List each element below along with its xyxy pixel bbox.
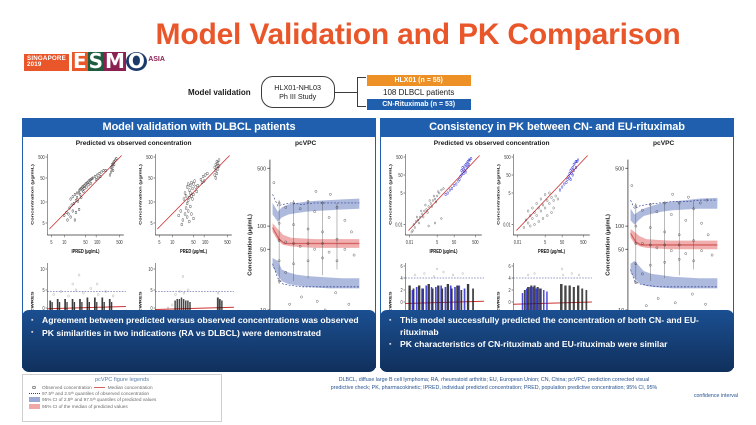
svg-text:500: 500 <box>116 239 123 245</box>
panel-right-heading: Consistency in PK between CN- and EU-rit… <box>380 118 734 137</box>
svg-text:500: 500 <box>257 166 266 172</box>
conclusion-list-left: Agreement between predicted versus obser… <box>30 315 368 339</box>
flow-connector-line <box>335 92 357 93</box>
legend-label: Observed concentration <box>42 385 92 390</box>
svg-text:50: 50 <box>260 247 266 253</box>
flow-bracket <box>357 77 358 107</box>
legend-label: 95% CI of the median of predicted values <box>42 404 128 409</box>
svg-text:100: 100 <box>202 239 209 245</box>
svg-text:PRED (µg/mL): PRED (µg/mL) <box>180 248 207 255</box>
svg-text:Concentration (µg/mL): Concentration (µg/mL) <box>605 214 611 276</box>
svg-text:0.01: 0.01 <box>406 239 414 245</box>
svg-text:Concentration (µg/mL): Concentration (µg/mL) <box>247 214 253 276</box>
logo-letter-s: S <box>88 52 104 71</box>
svg-text:PRED (µg/mL): PRED (µg/mL) <box>538 248 565 255</box>
svg-text:50: 50 <box>83 239 88 245</box>
svg-text:10: 10 <box>149 266 154 272</box>
legend-item: 95% CI of the median of predicted values <box>26 404 218 409</box>
panel-left-subtitles: Predicted vs observed concentration pcVP… <box>23 137 375 148</box>
svg-text:500: 500 <box>505 154 512 160</box>
svg-text:500: 500 <box>147 154 154 160</box>
conclusion-list-right: This model successfully predicted the co… <box>388 315 726 351</box>
legend-label: Median concentration <box>108 385 153 390</box>
logo-letter-e: E <box>72 52 88 71</box>
svg-text:500: 500 <box>38 154 45 160</box>
svg-text:50: 50 <box>507 172 512 178</box>
pcvpc-legend-box: pcVPC figure legends Observed concentrat… <box>22 374 222 422</box>
svg-text:5: 5 <box>50 239 52 245</box>
svg-text:6: 6 <box>509 263 511 269</box>
flow-study-box: HLX01-NHL03 Ph III Study <box>261 76 335 108</box>
subtitle-predicted-vs-observed-left: Predicted vs observed concentration <box>27 140 240 147</box>
svg-text:Concentration (µg/mL): Concentration (µg/mL) <box>496 164 501 225</box>
svg-text:4: 4 <box>400 275 402 281</box>
svg-text:50: 50 <box>618 247 624 253</box>
svg-text:500: 500 <box>396 154 403 160</box>
flow-total-patients: 108 DLBCL patients <box>367 87 471 98</box>
svg-text:Concentration (µg/mL): Concentration (µg/mL) <box>30 164 35 225</box>
flow-arm-cn-rituximab: CN-Rituximab (n = 53) <box>367 99 471 110</box>
svg-text:5: 5 <box>436 239 438 245</box>
legend-item: Observed concentration Median concentrat… <box>26 385 218 390</box>
slide-header: SINGAPORE 2019 E S M O ASIA Model Valida… <box>0 0 756 112</box>
conclusion-item: Agreement between predicted versus obser… <box>30 315 368 327</box>
flow-arms: HLX01 (n = 55) 108 DLBCL patients CN-Rit… <box>367 75 471 110</box>
svg-text:10: 10 <box>149 199 154 205</box>
esmo-asia-logo: SINGAPORE 2019 E S M O ASIA <box>24 52 147 71</box>
svg-text:10: 10 <box>40 199 45 205</box>
svg-text:100: 100 <box>615 224 624 230</box>
svg-text:5: 5 <box>400 190 402 196</box>
svg-text:100: 100 <box>94 239 101 245</box>
svg-text:10: 10 <box>62 239 67 245</box>
flow-label: Model validation <box>188 88 251 97</box>
legend-label: 95% CI of 2.5ᵗʰ and 97.5ᵗʰ quantiles of … <box>42 397 156 402</box>
svg-text:0.01: 0.01 <box>514 239 522 245</box>
svg-text:2: 2 <box>509 287 511 293</box>
svg-text:50: 50 <box>560 239 565 245</box>
svg-text:0.01: 0.01 <box>395 222 403 228</box>
svg-text:500: 500 <box>615 166 624 172</box>
abbreviations-footnote: DLBCL, diffuse large B cell lymphoma; RA… <box>250 376 738 400</box>
logo-singapore-badge: SINGAPORE 2019 <box>24 54 69 71</box>
svg-text:5: 5 <box>42 287 44 293</box>
svg-text:10: 10 <box>170 239 175 245</box>
footnote-line-3: confidence interval <box>250 392 738 400</box>
subtitle-pcvpc-left: pcVPC <box>240 140 371 147</box>
conclusion-item: PK similarities in two indications (RA v… <box>30 328 368 340</box>
svg-text:IPRED (µg/mL): IPRED (µg/mL) <box>71 248 99 255</box>
svg-text:500: 500 <box>472 239 479 245</box>
footnote-line-1: DLBCL, diffuse large B cell lymphoma; RA… <box>250 376 738 384</box>
observed-concentration-circle-icon <box>26 386 42 390</box>
logo-year: 2019 <box>27 62 66 69</box>
svg-text:2: 2 <box>400 287 402 293</box>
svg-text:50: 50 <box>398 172 403 178</box>
svg-text:Concentration (µg/mL): Concentration (µg/mL) <box>388 164 393 225</box>
svg-text:5: 5 <box>42 220 44 226</box>
svg-text:IPRED (µg/mL): IPRED (µg/mL) <box>429 248 457 255</box>
logo-letter-m: M <box>104 52 126 71</box>
legend-label: 97.5ᵗʰ and 2.5ᵗʰ quantiles of observed c… <box>42 391 149 396</box>
flow-study-name: HLX01-NHL03 <box>274 83 321 93</box>
logo-letter-o: O <box>126 52 147 71</box>
svg-text:50: 50 <box>149 175 154 181</box>
svg-text:0.01: 0.01 <box>503 222 511 228</box>
svg-text:0: 0 <box>400 299 402 305</box>
svg-text:6: 6 <box>400 263 402 269</box>
slide-footer: pcVPC figure legends Observed concentrat… <box>0 372 756 425</box>
chart-conc-vs-pred-right: 500 50 5 0.01 0.01 5 50 500 PRED (µg/mL) <box>492 148 598 256</box>
quantile-dotted-line-icon <box>26 393 42 394</box>
panel-left-heading: Model validation with DLBCL patients <box>22 118 376 137</box>
predicted-median-band-swatch-icon <box>26 404 42 409</box>
logo-asia-suffix: ASIA <box>148 50 165 69</box>
svg-text:5: 5 <box>151 220 153 226</box>
footnote-line-2: predictive check; PK, pharmacokinetic; I… <box>250 384 738 392</box>
page-title: Model Validation and PK Comparison <box>0 18 756 52</box>
svg-text:50: 50 <box>40 175 45 181</box>
legend-item: 95% CI of 2.5ᵗʰ and 97.5ᵗʰ quantiles of … <box>26 397 218 402</box>
svg-text:5: 5 <box>159 239 161 245</box>
svg-text:4: 4 <box>509 275 511 281</box>
conclusion-box-right: This model successfully predicted the co… <box>380 310 734 372</box>
svg-text:50: 50 <box>192 239 197 245</box>
median-concentration-line-icon <box>92 387 108 388</box>
chart-conc-vs-ipred-right: 500 50 5 0.01 0.01 5 50 500 IPRED (µg/mL… <box>384 148 490 256</box>
svg-text:5: 5 <box>544 239 546 245</box>
legend-title: pcVPC figure legends <box>26 377 218 383</box>
subtitle-predicted-vs-observed-right: Predicted vs observed concentration <box>385 140 598 147</box>
conclusions-row: Agreement between predicted versus obser… <box>0 310 756 372</box>
flow-study-phase: Ph III Study <box>279 92 316 102</box>
svg-text:10: 10 <box>40 266 45 272</box>
legend-item: 97.5ᵗʰ and 2.5ᵗʰ quantiles of observed c… <box>26 391 218 396</box>
logo-esmo-wordmark: E S M O ASIA <box>72 52 147 71</box>
svg-text:5: 5 <box>509 190 511 196</box>
conclusion-item: PK characteristics of CN-rituximab and E… <box>388 339 726 351</box>
svg-text:0: 0 <box>509 299 511 305</box>
svg-text:50: 50 <box>452 239 457 245</box>
conclusion-box-left: Agreement between predicted versus obser… <box>22 310 376 372</box>
chart-conc-vs-pred-left: 500 50 10 5 5 10 50 100 500 PRED (µg/m <box>134 148 240 256</box>
panel-right-subtitles: Predicted vs observed concentration pcVP… <box>381 137 733 148</box>
legend-items: Observed concentration Median concentrat… <box>26 385 218 409</box>
conclusion-item: This model successfully predicted the co… <box>388 315 726 338</box>
study-flow-diagram: Model validation HLX01-NHL03 Ph III Stud… <box>188 72 471 112</box>
subtitle-pcvpc-right: pcVPC <box>598 140 729 147</box>
svg-text:500: 500 <box>225 239 232 245</box>
flow-arm-hlx01: HLX01 (n = 55) <box>367 75 471 86</box>
svg-text:500: 500 <box>580 239 587 245</box>
chart-conc-vs-ipred-left: 500 50 10 5 5 10 50 100 500 IPRED (µg/ <box>26 148 132 256</box>
svg-text:5: 5 <box>151 287 153 293</box>
svg-text:100: 100 <box>257 224 266 230</box>
svg-text:Concentration (µg/mL): Concentration (µg/mL) <box>138 164 143 225</box>
predicted-quantile-band-swatch-icon <box>26 397 42 402</box>
